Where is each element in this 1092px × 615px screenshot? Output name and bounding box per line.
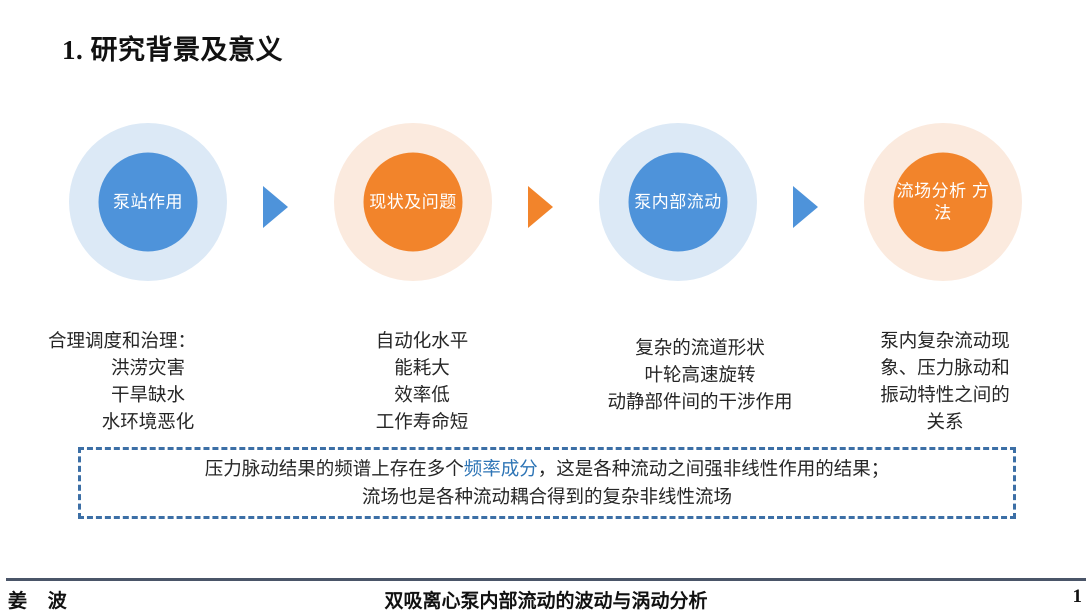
stage-label-1: 泵站作用 [99,153,198,252]
caption-body-3: 复杂的流道形状 叶轮高速旋转 动静部件间的干涉作用 [607,337,792,412]
process-diagram: 泵站作用 现状及问题 泵内部流动 流场分析 方法 [0,112,1092,292]
process-stage-2: 现状及问题 [323,112,503,292]
caption-block-4: 泵内复杂流动现 象、压力脉动和 振动特性之间的 关系 [855,300,1035,435]
callout-highlight-term: 频率成分 [464,458,538,479]
callout-text-after: ，这是各种流动之间强非线性作用的结果； [538,458,890,479]
key-finding-callout: 压力脉动结果的频谱上存在多个频率成分，这是各种流动之间强非线性作用的结果； 流场… [78,447,1016,519]
caption-block-1: 合理调度和治理：洪涝灾害 干旱缺水 水环境恶化 [48,300,248,435]
stage-label-3: 泵内部流动 [629,153,728,252]
footer: 姜 波 双吸离心泵内部流动的波动与涡动分析 1 [0,586,1092,615]
footer-subject: 双吸离心泵内部流动的波动与涡动分析 [0,586,1092,613]
stage-label-4: 流场分析 方法 [894,153,993,252]
callout-line-1: 压力脉动结果的频谱上存在多个频率成分，这是各种流动之间强非线性作用的结果； [205,455,890,483]
caption-body-2: 自动化水平 能耗大 效率低 工作寿命短 [376,330,469,432]
process-arrow-1-icon [263,186,288,228]
caption-body-4: 泵内复杂流动现 象、压力脉动和 振动特性之间的 关系 [880,330,1010,432]
stage-label-2: 现状及问题 [364,153,463,252]
footer-page-number: 1 [1073,586,1083,608]
caption-lead-1: 合理调度和治理： [48,327,248,354]
process-stage-4: 流场分析 方法 [853,112,1033,292]
caption-block-2: 自动化水平 能耗大 效率低 工作寿命短 [332,300,512,435]
footer-divider [6,578,1086,581]
callout-line-2: 流场也是各种流动耦合得到的复杂非线性流场 [362,483,732,511]
caption-body-1: 洪涝灾害 干旱缺水 水环境恶化 [102,357,195,432]
process-stage-3: 泵内部流动 [588,112,768,292]
process-arrow-3-icon [793,186,818,228]
caption-block-3: 复杂的流道形状 叶轮高速旋转 动静部件间的干涉作用 [575,307,825,415]
callout-text-before: 压力脉动结果的频谱上存在多个 [205,458,464,479]
page-title: 1. 研究背景及意义 [62,28,283,67]
process-arrow-2-icon [528,186,553,228]
process-stage-1: 泵站作用 [58,112,238,292]
